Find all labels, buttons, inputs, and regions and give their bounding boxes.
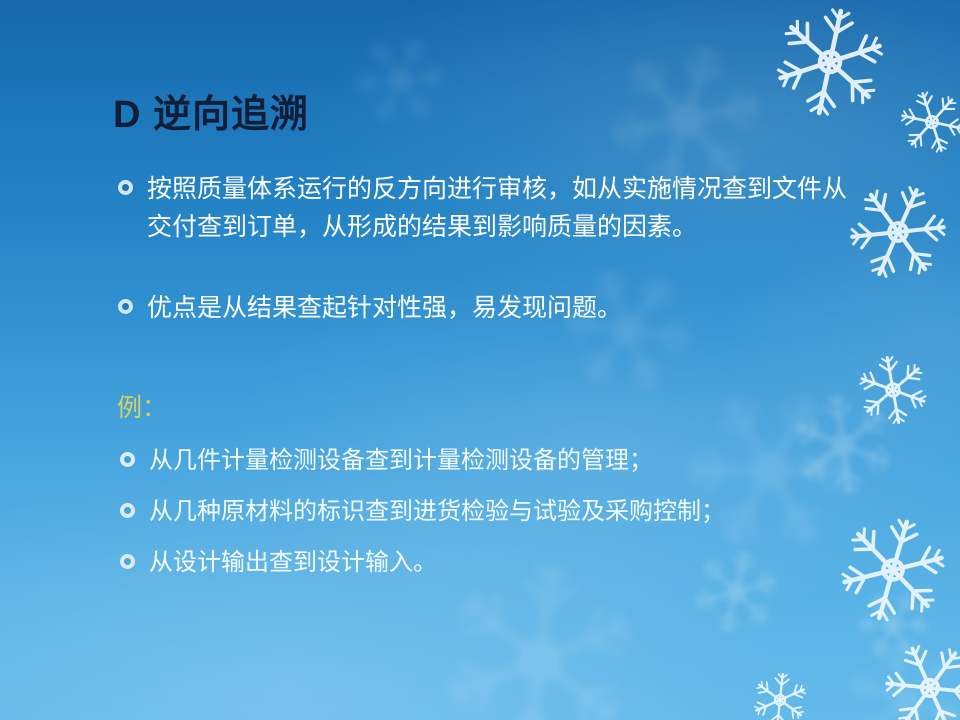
ring-bullet-icon [118, 180, 133, 195]
list-item: 优点是从结果查起针对性强，易发现问题。 [118, 289, 622, 327]
example-label: 例： [117, 391, 167, 425]
list-item-label: 按照质量体系运行的反方向进行审核，如从实施情况查到文件从交付查到订单，从形成的结… [147, 170, 858, 246]
list-item-label: 优点是从结果查起针对性强，易发现问题。 [147, 289, 622, 327]
list-item-label: 从设计输出查到设计输入。 [149, 545, 437, 581]
list-item-label: 从几件计量检测设备查到计量检测设备的管理； [149, 443, 653, 479]
page-title: D 逆向追溯 [113, 95, 309, 137]
ring-bullet-icon [120, 452, 135, 467]
list-item: 按照质量体系运行的反方向进行审核，如从实施情况查到文件从交付查到订单，从形成的结… [118, 170, 858, 246]
list-item: 从设计输出查到设计输入。 [120, 545, 437, 581]
ring-bullet-icon [120, 554, 135, 569]
ring-bullet-icon [120, 503, 135, 518]
list-item: 从几件计量检测设备查到计量检测设备的管理； [120, 443, 653, 479]
list-item: 从几种原材料的标识查到进货检验与试验及采购控制； [120, 494, 725, 530]
presentation-slide: D 逆向追溯 按照质量体系运行的反方向进行审核，如从实施情况查到文件从交付查到订… [0, 0, 960, 720]
slide-content: D 逆向追溯 按照质量体系运行的反方向进行审核，如从实施情况查到文件从交付查到订… [0, 0, 960, 720]
list-item-label: 从几种原材料的标识查到进货检验与试验及采购控制； [149, 494, 725, 530]
ring-bullet-icon [118, 299, 133, 314]
